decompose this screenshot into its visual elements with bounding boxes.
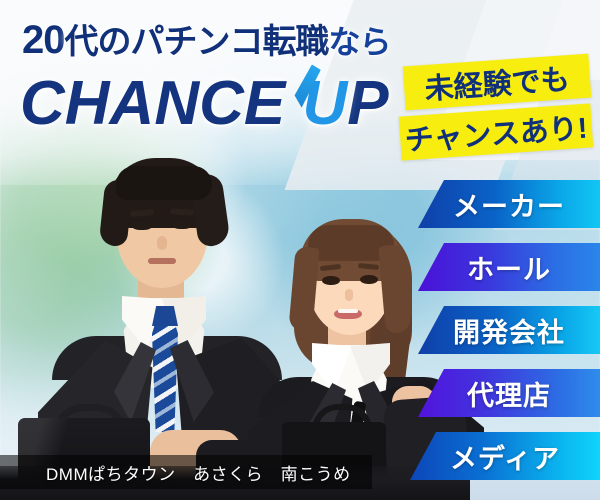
man-nose <box>157 236 167 250</box>
caption-bar: DMMぱちタウン あさくら 南こうめ <box>0 455 372 489</box>
advertisement-banner[interactable]: 20代のパチンコ転職なら CHANCE UP 未経験でも チャンスあり! メーカ… <box>0 0 600 500</box>
category-button-hall[interactable]: ホール <box>418 243 600 291</box>
man-eye-right <box>172 221 192 229</box>
category-button-development-company[interactable]: 開発会社 <box>418 306 600 354</box>
caption-text: DMMぱちタウン あさくら 南こうめ <box>46 460 351 485</box>
woman-teeth <box>338 309 358 313</box>
category-button-media[interactable]: メディア <box>410 432 600 480</box>
category-button-maker[interactable]: メーカー <box>418 180 600 228</box>
brand-wordmark: CHANCE UP <box>20 68 389 139</box>
headline-keyword: パチンコ転職 <box>131 23 329 61</box>
woman-eye-right <box>360 275 378 284</box>
woman-eye-left <box>322 276 340 285</box>
page-title: 20代のパチンコ転職なら <box>22 14 391 63</box>
headline-age-suffix: 代の <box>65 23 131 61</box>
wordmark-up-p: P <box>347 69 388 138</box>
wordmark-chance: CHANCE <box>20 69 285 138</box>
man-necktie <box>152 312 178 432</box>
man-necktie-knot <box>152 306 178 326</box>
headline-tail: なら <box>329 24 391 60</box>
category-button-agency[interactable]: 代理店 <box>418 369 600 417</box>
headline-age: 20 <box>22 18 65 62</box>
woman-nose <box>345 289 353 301</box>
man-fringe <box>116 166 212 200</box>
man-mouth <box>148 258 176 264</box>
man-eye-left <box>132 222 152 230</box>
